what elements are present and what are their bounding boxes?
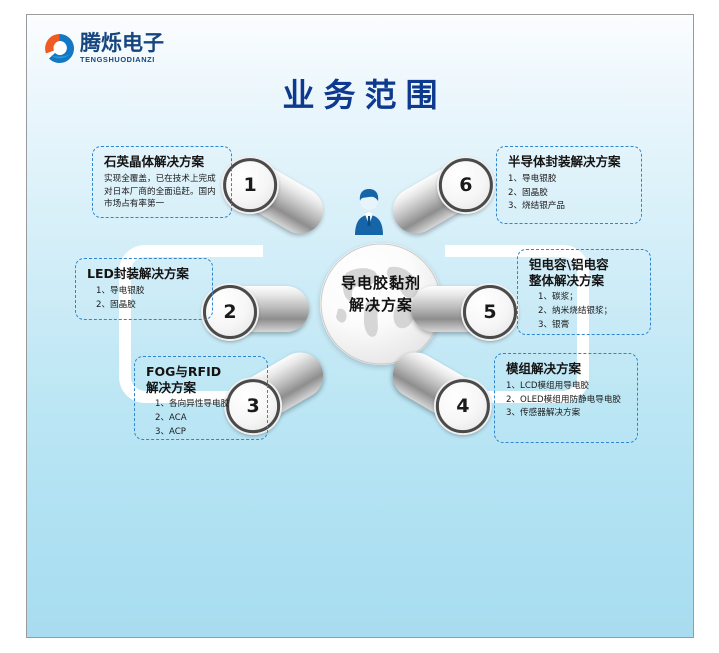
info-box-heading: 钽电容\铝电容 整体解决方案 [529, 257, 641, 288]
info-box-quartz-crystal[interactable]: 石英晶体解决方案 实现全覆盖，已在技术上完成对日本厂商的全面追赶。国内市场占有率… [92, 146, 232, 218]
brand-name-cn: 腾烁电子 [80, 33, 164, 54]
info-box-fog-rfid[interactable]: FOG与RFID 解决方案 1、各向异性导电胶 2、ACA 3、ACP [134, 356, 268, 440]
info-box-heading-line2: 解决方案 [146, 380, 196, 395]
list-item: 1、LCD模组用导电胶 [506, 380, 628, 394]
tengshuo-swoosh-logo-icon [44, 33, 75, 64]
info-box-semiconductor-packaging[interactable]: 半导体封装解决方案 1、导电银胶 2、固晶胶 3、烧结银产品 [496, 146, 642, 224]
marker-number: 5 [483, 301, 496, 323]
info-box-heading: 石英晶体解决方案 [104, 154, 222, 170]
info-box-list: 1、碳浆； 2、纳米烧结银浆； 3、银膏 [529, 291, 641, 333]
list-item: 2、OLED模组用防静电导电胶 [506, 394, 628, 408]
marker-2[interactable]: 2 [205, 286, 309, 332]
info-box-heading: LED封装解决方案 [87, 266, 203, 282]
info-box-heading: 半导体封装解决方案 [508, 154, 632, 170]
list-item: 1、导电银胶 [87, 285, 203, 299]
list-item: 1、各向异性导电胶 [146, 398, 258, 412]
list-item: 3、ACP [146, 426, 258, 440]
info-box-heading: 模组解决方案 [506, 361, 628, 377]
info-box-heading-line2: 整体解决方案 [529, 273, 604, 288]
list-item: 2、纳米烧结银浆； [529, 305, 641, 319]
list-item: 3、银膏 [529, 319, 641, 333]
brand-name-en: TENGSHUODIANZI [80, 56, 164, 63]
list-item: 2、ACA [146, 412, 258, 426]
info-box-heading-line1: 钽电容\铝电容 [529, 257, 609, 272]
marker-number-badge[interactable]: 4 [436, 379, 490, 433]
marker-6[interactable]: 6 [384, 150, 497, 242]
info-box-heading: FOG与RFID 解决方案 [146, 364, 258, 395]
marker-number: 6 [459, 174, 472, 196]
marker-number: 2 [223, 301, 236, 323]
marker-1[interactable]: 1 [218, 150, 331, 242]
center-label-line2: 解决方案 [349, 296, 413, 314]
marker-number-badge[interactable]: 5 [463, 285, 517, 339]
info-box-module-solution[interactable]: 模组解决方案 1、LCD模组用导电胶 2、OLED模组用防静电导电胶 3、传感器… [494, 353, 638, 443]
businessman-avatar-icon [349, 185, 389, 237]
info-box-list: 1、导电银胶 2、固晶胶 3、烧结银产品 [508, 173, 632, 215]
marker-number-badge[interactable]: 6 [439, 158, 493, 212]
info-box-list: 1、导电银胶 2、固晶胶 [87, 285, 203, 313]
list-item: 1、碳浆； [529, 291, 641, 305]
brand-logo: 腾烁电子 TENGSHUODIANZI [44, 33, 164, 64]
info-box-heading-line1: FOG与RFID [146, 364, 221, 379]
list-item: 3、烧结银产品 [508, 200, 632, 214]
marker-number: 1 [243, 174, 256, 196]
marker-number: 4 [456, 395, 469, 417]
center-label-line1: 导电胶黏剂 [341, 274, 421, 292]
info-box-list: 1、各向异性导电胶 2、ACA 3、ACP [146, 398, 258, 440]
list-item: 2、固晶胶 [508, 187, 632, 201]
marker-5[interactable]: 5 [411, 286, 515, 332]
list-item: 1、导电银胶 [508, 173, 632, 187]
list-item: 2、固晶胶 [87, 299, 203, 313]
info-box-list: 1、LCD模组用导电胶 2、OLED模组用防静电导电胶 3、传感器解决方案 [506, 380, 628, 422]
slide-canvas: 腾烁电子 TENGSHUODIANZI 业务范围 [26, 14, 694, 638]
list-item: 3、传感器解决方案 [506, 407, 628, 421]
info-box-led-packaging[interactable]: LED封装解决方案 1、导电银胶 2、固晶胶 [75, 258, 213, 320]
page-title: 业务范围 [27, 70, 693, 116]
info-box-tantalum-aluminum-capacitor[interactable]: 钽电容\铝电容 整体解决方案 1、碳浆； 2、纳米烧结银浆； 3、银膏 [517, 249, 651, 335]
info-box-body: 实现全覆盖，已在技术上完成对日本厂商的全面追赶。国内市场占有率第一 [104, 173, 222, 212]
